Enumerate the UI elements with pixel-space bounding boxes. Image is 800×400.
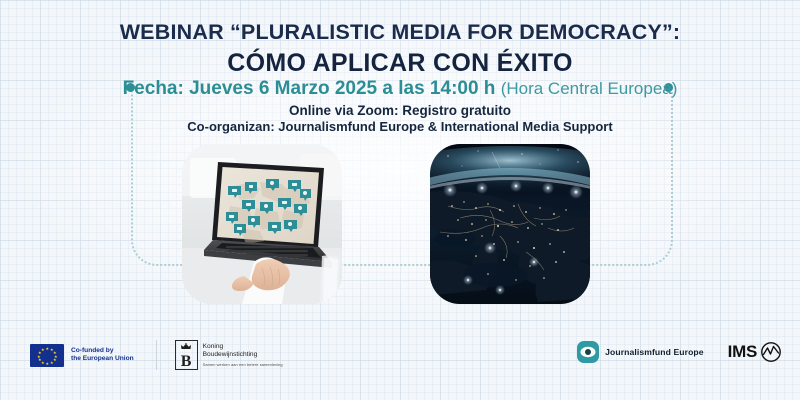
- funder-logos-left: ★ ★ ★ ★ ★ ★ ★ ★ ★ ★ ★ ★ Co-funded by the…: [30, 340, 283, 370]
- journalismfund-eye-icon: [577, 341, 599, 363]
- kbs-line1: Koning: [203, 343, 283, 352]
- partner-logos-right: Journalismfund Europe IMS: [577, 341, 782, 363]
- poster-stage: WEBINAR “PLURALISTIC MEDIA FOR DEMOCRACY…: [0, 0, 800, 400]
- eu-logo-text: Co-funded by the European Union: [71, 347, 134, 364]
- eu-flag-icon: ★ ★ ★ ★ ★ ★ ★ ★ ★ ★ ★ ★: [30, 344, 64, 367]
- event-date-line: Fecha: Jueves 6 Marzo 2025 a las 14:00 h…: [0, 78, 800, 101]
- date-value: Jueves 6 Marzo 2025 a las 14:00 h: [189, 78, 495, 99]
- kbs-letter: B: [181, 354, 192, 369]
- koning-boudewijnstichting-logo: B Koning Boudewijnstichting Samen werken…: [156, 340, 283, 370]
- eu-logo-line2: the European Union: [71, 355, 134, 363]
- page-title-line1: WEBINAR “PLURALISTIC MEDIA FOR DEMOCRACY…: [0, 20, 800, 45]
- kbs-tagline: Samen werken aan een betere samenleving: [203, 362, 283, 367]
- date-label: Fecha:: [123, 78, 184, 99]
- kbs-logo-text: Koning Boudewijnstichting Samen werken a…: [203, 343, 283, 367]
- ims-label: IMS: [728, 342, 757, 362]
- ims-logo: IMS: [728, 341, 782, 363]
- ims-pulse-icon: [760, 341, 782, 363]
- registration-info: Online via Zoom: Registro gratuito: [0, 103, 800, 118]
- eu-cofunded-logo: ★ ★ ★ ★ ★ ★ ★ ★ ★ ★ ★ ★ Co-funded by the…: [30, 344, 134, 367]
- date-timezone: (Hora Central Europea): [501, 79, 678, 98]
- europe-night-earth-photo: [430, 144, 590, 304]
- laptop-typing-photo: [182, 144, 342, 304]
- journalismfund-label: Journalismfund Europe: [605, 347, 704, 357]
- kbs-line2: Boudewijnstichting: [203, 351, 283, 360]
- journalismfund-europe-logo: Journalismfund Europe: [577, 341, 704, 363]
- page-title-line2: CÓMO APLICAR CON ÉXITO: [0, 48, 800, 78]
- eu-logo-line1: Co-funded by: [71, 347, 134, 355]
- kbs-crown-b-icon: B: [175, 340, 198, 370]
- heading-block: WEBINAR “PLURALISTIC MEDIA FOR DEMOCRACY…: [0, 20, 800, 78]
- co-organizers-info: Co-organizan: Journalismfund Europe & In…: [0, 119, 800, 134]
